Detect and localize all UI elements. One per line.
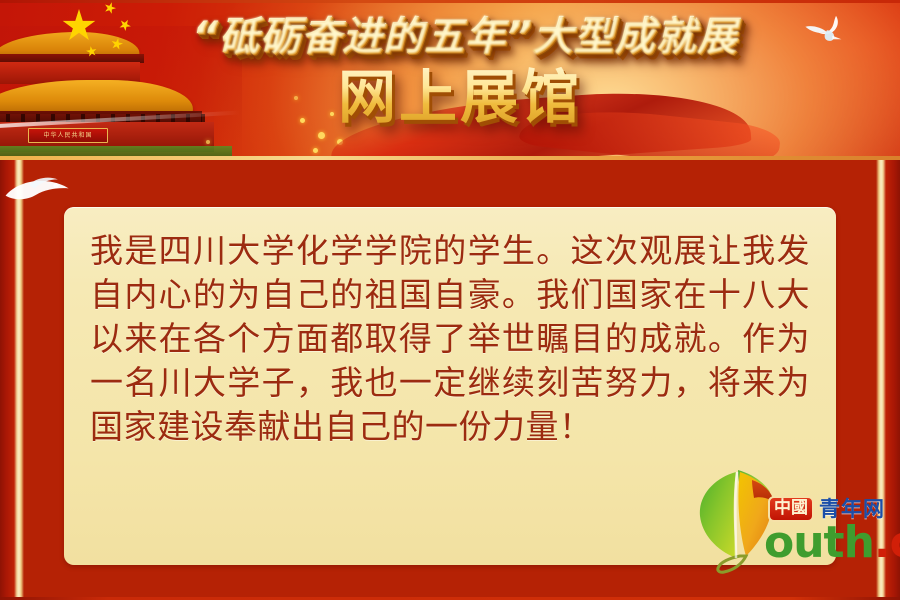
sparkle-icon: [318, 132, 325, 139]
banner-title: “砥砺奋进的五年”大型成就展: [0, 12, 900, 62]
exhibition-page: 中华人民共和国 “砥砺奋进的五年”大型成就展 网上展馆: [0, 0, 900, 600]
banner-subtitle: 网上展馆: [0, 62, 900, 132]
banner-header: 中华人民共和国 “砥砺奋进的五年”大型成就展 网上展馆: [0, 0, 900, 160]
dove-icon: [2, 168, 74, 216]
logo-wordmark-cn: .cn: [874, 517, 900, 568]
logo-wordmark: outh.cn: [764, 520, 900, 566]
sparkle-icon: [206, 140, 210, 144]
testimony-text: 我是四川大学化学学院的学生。这次观展让我发自内心的为自己的祖国自豪。我们国家在十…: [90, 229, 810, 449]
sparkle-icon: [313, 148, 318, 153]
youth-cn-logo[interactable]: 中國 青年网 outh.cn: [690, 458, 896, 578]
banner-top-edge: [0, 0, 900, 3]
logo-wordmark-outh: outh: [764, 517, 874, 568]
